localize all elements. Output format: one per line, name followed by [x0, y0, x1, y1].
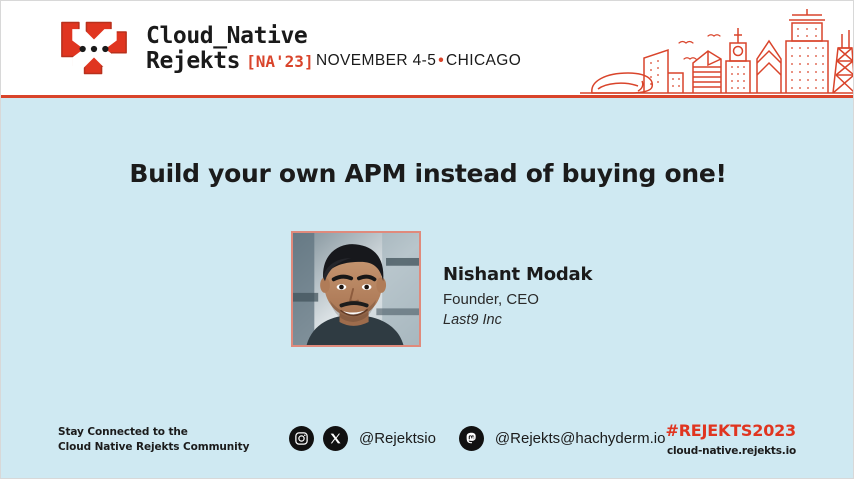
x-twitter-handle[interactable]: @Rejektsio — [359, 430, 436, 447]
event-website-url[interactable]: cloud-native.rejekts.io — [665, 445, 796, 457]
event-city: CHICAGO — [446, 52, 521, 69]
brand-name-rejekts: Rejekts — [146, 48, 240, 74]
event-separator-dot: • — [436, 52, 446, 69]
x-twitter-icon[interactable] — [323, 426, 348, 451]
speaker-info: Nishant Modak Founder, CEO Last9 Inc — [443, 250, 592, 328]
speaker-block: Nishant Modak Founder, CEO Last9 Inc — [291, 231, 592, 347]
speaker-organization: Last9 Inc — [443, 312, 592, 328]
event-hashtag: #REJEKTS2023 — [665, 421, 796, 440]
footer-tagline-line-2: Cloud Native Rejekts Community — [58, 440, 249, 455]
speaker-headshot — [291, 231, 421, 347]
speaker-name: Nishant Modak — [443, 264, 592, 285]
speaker-role: Founder, CEO — [443, 291, 592, 308]
slide-header: Cloud_Native Rejekts[NA'23] NOVEMBER 4-5… — [1, 1, 854, 98]
talk-title: Build your own APM instead of buying one… — [1, 159, 854, 188]
instagram-icon[interactable] — [289, 426, 314, 451]
footer-tagline: Stay Connected to the Cloud Native Rejek… — [58, 425, 249, 455]
brand-line-2: Rejekts[NA'23] — [146, 49, 314, 74]
footer-tagline-line-1: Stay Connected to the — [58, 425, 249, 440]
mastodon-icon[interactable] — [459, 426, 484, 451]
mastodon-handle[interactable]: @Rejekts@hachyderm.io — [495, 430, 666, 447]
hashtag-block: #REJEKTS2023 cloud-native.rejekts.io — [665, 421, 796, 457]
rejekts-x-logo-icon — [56, 15, 132, 83]
edition-badge: [NA'23] — [246, 52, 313, 71]
brand-line-1: Cloud_Native — [146, 24, 314, 49]
brand-lockup: Cloud_Native Rejekts[NA'23] — [56, 15, 314, 83]
event-meta: NOVEMBER 4-5•CHICAGO — [316, 52, 521, 70]
event-dates: NOVEMBER 4-5 — [316, 52, 436, 69]
social-links: @Rejektsio @Rejekts@hachyderm.io — [289, 426, 679, 451]
chicago-skyline-icon — [580, 1, 854, 98]
conference-slide: Cloud_Native Rejekts[NA'23] NOVEMBER 4-5… — [0, 0, 854, 479]
brand-wordmark: Cloud_Native Rejekts[NA'23] — [146, 24, 314, 74]
